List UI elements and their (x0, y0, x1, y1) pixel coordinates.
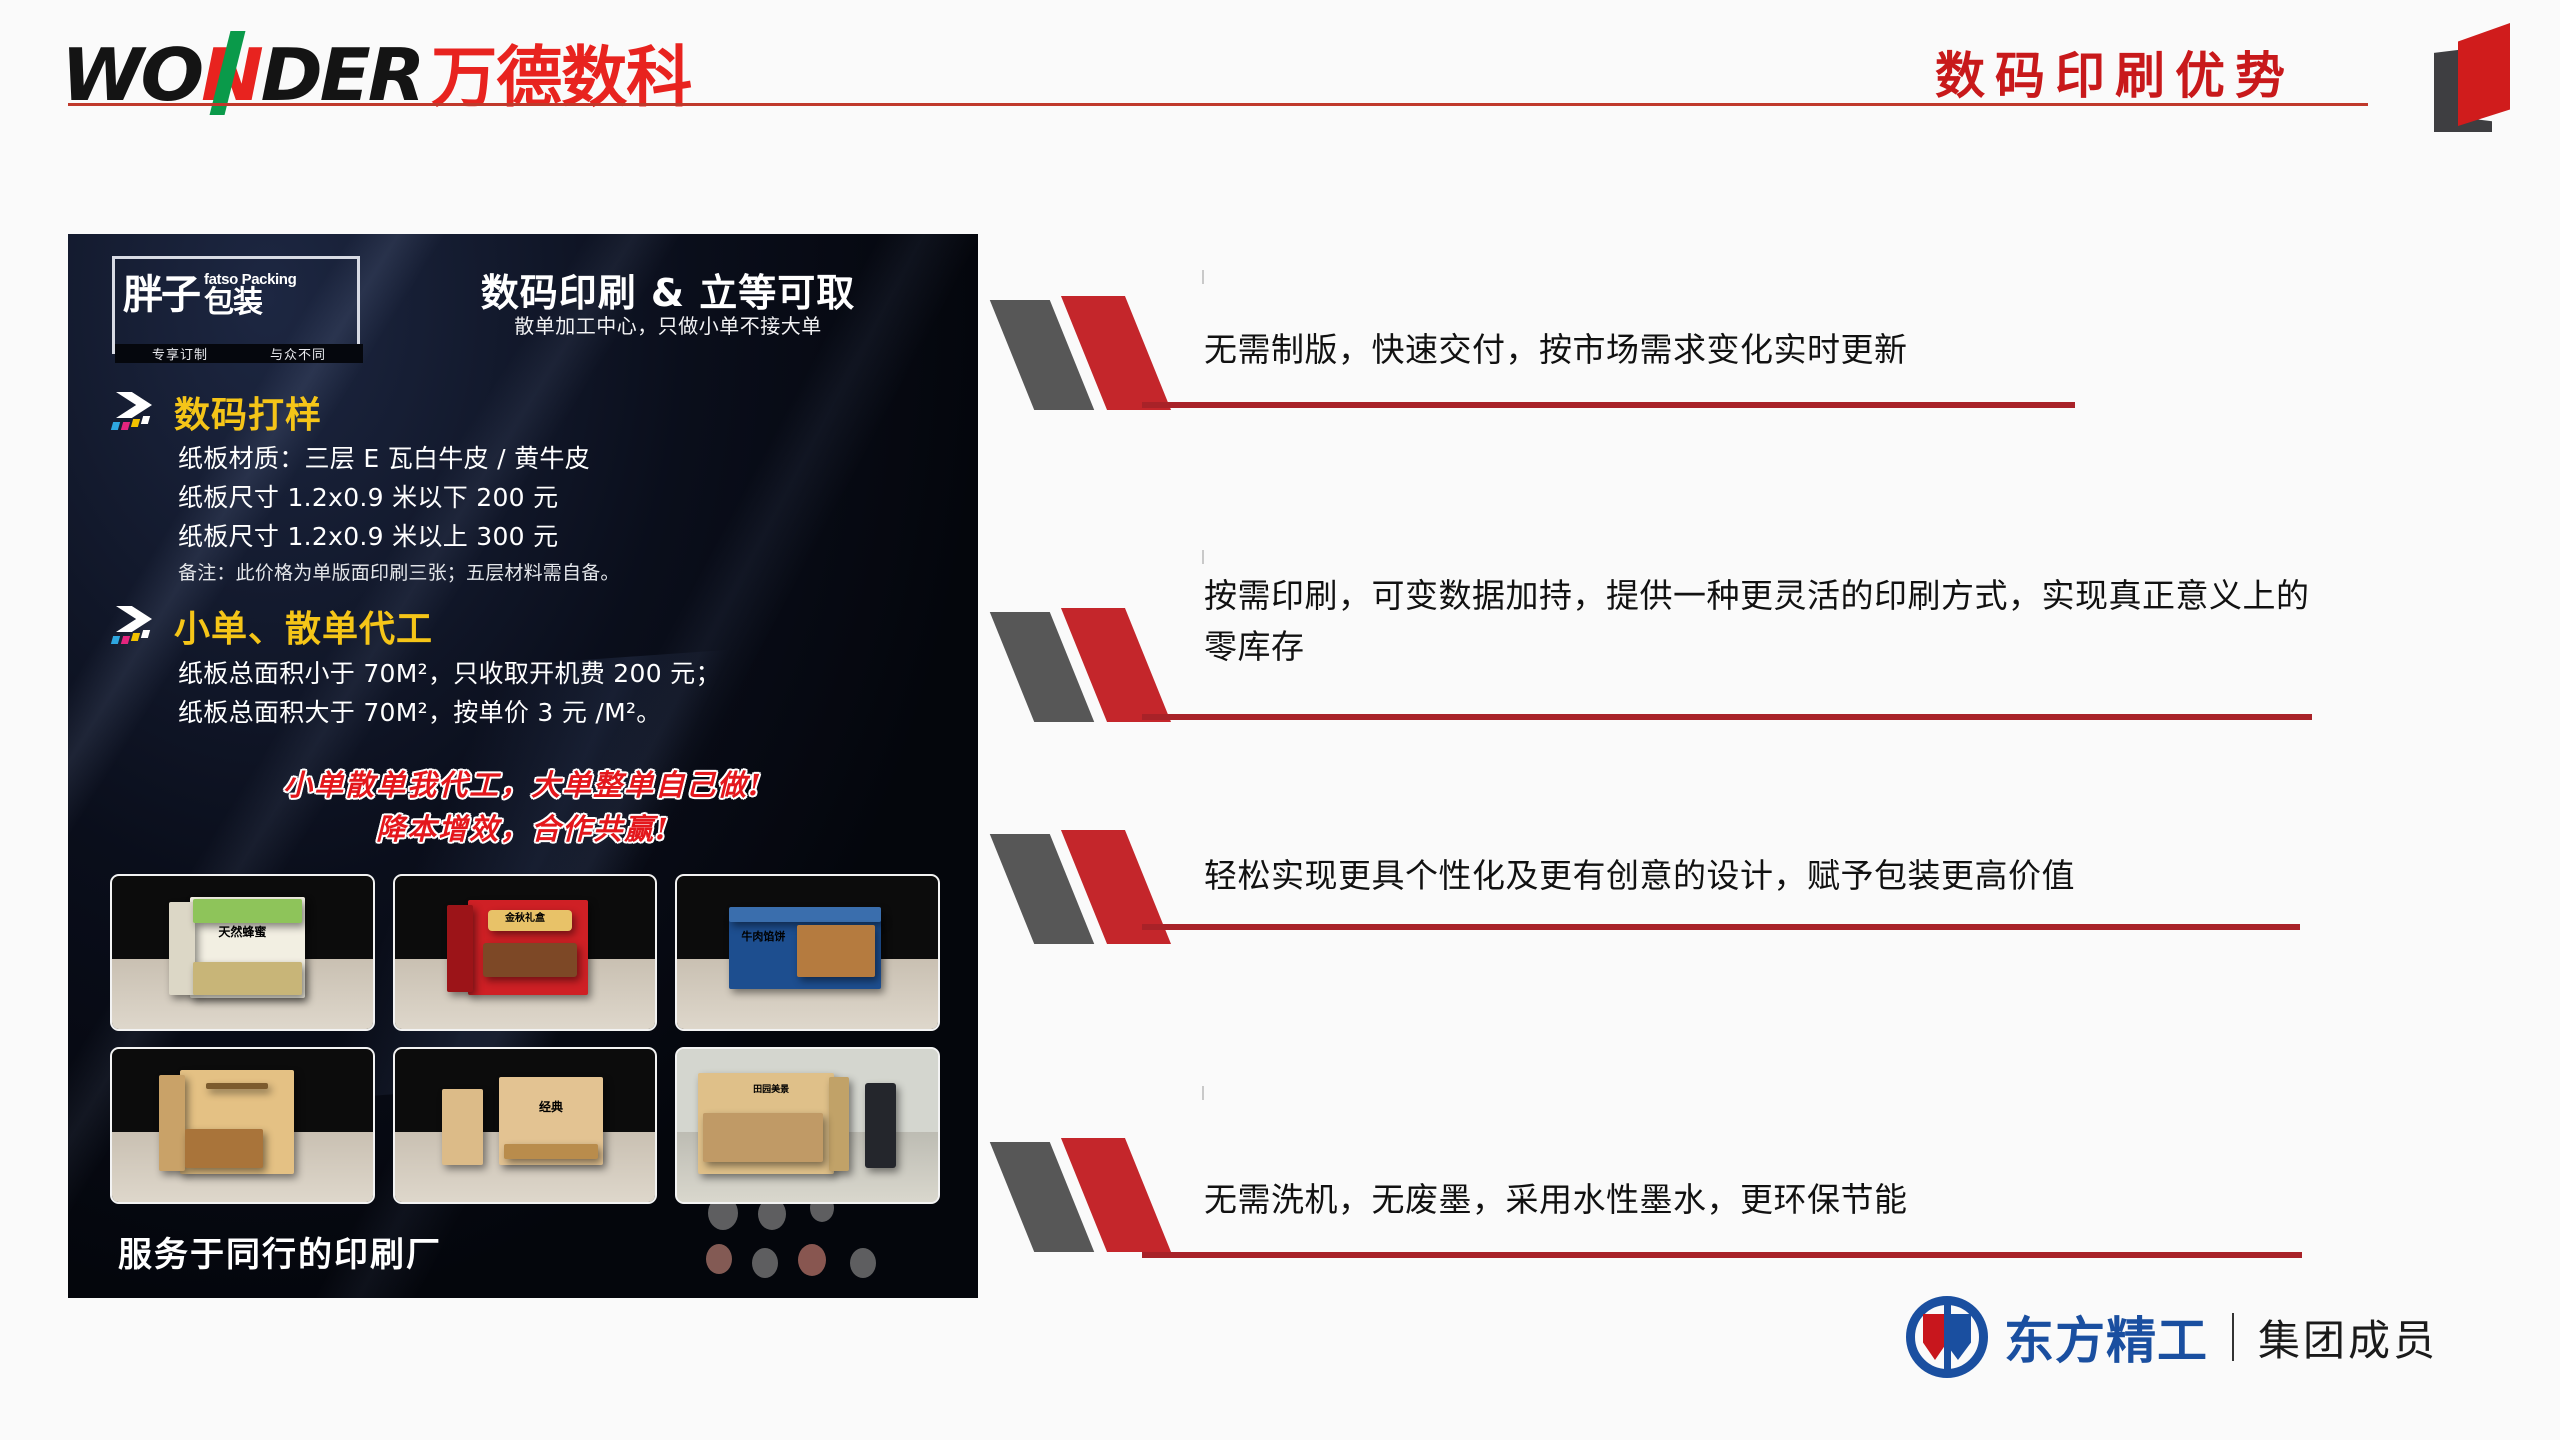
bullet-3-text: 轻松实现更具个性化及更有创意的设计，赋予包装更高价值 (1204, 850, 2314, 901)
product-photo-beef-carton: 牛肉馅饼 (675, 874, 940, 1031)
photo-2-label: 金秋礼盒 (505, 914, 545, 924)
fatso-sub-left: 专享订制 (146, 344, 214, 363)
fatso-cn-pack: 包装 (204, 288, 296, 318)
footer-company-name: 东方精工 (2004, 1301, 2208, 1373)
header-divider-rule (68, 103, 2368, 106)
promo-poster-image: 胖子 fatso Packing 包装 专享订制 与众不同 数码印刷 & 立等可… (68, 234, 978, 1298)
arrow-dot-yellow (131, 419, 140, 427)
poster-slogan-line-1: 小单散单我代工，大单整单自己做! (68, 762, 978, 804)
bullet-1-rule (1142, 402, 2075, 408)
footer-member-label: 集团成员 (2258, 1307, 2438, 1368)
arrow-dot-cyan (111, 422, 120, 430)
page-header: WONDER 万德数科 数码印刷优势 (0, 0, 2560, 175)
dongfang-precision-group-logo: 东方精工 集团成员 (1906, 1296, 2438, 1378)
arrow-dot-cyan (111, 636, 120, 644)
bullet-3-rule (1142, 924, 2300, 930)
poster-section1-note: 备注：此价格为单版面印刷三张；五层材料需自备。 (178, 558, 620, 585)
arrow-chevron (116, 392, 152, 418)
fatso-sub-right: 与众不同 (264, 344, 332, 363)
arrow-dot-white (141, 630, 150, 638)
fatso-logo-main: 胖子 fatso Packing 包装 (123, 264, 355, 326)
product-photo-kraft-gift-bag (110, 1047, 375, 1204)
corner-red-panel (2458, 23, 2510, 126)
emblem-stem (1944, 1302, 1951, 1374)
product-photo-large-display-carton: 田园美景 (675, 1047, 940, 1204)
folded-paper-corner-icon (2426, 10, 2536, 132)
footer-divider (2232, 1313, 2234, 1361)
poster-section1-line-3: 纸板尺寸 1.2x0.9 米以上 300 元 (178, 517, 558, 553)
photo-5-label: 经典 (539, 1101, 563, 1113)
arrow-dot-yellow (131, 633, 140, 641)
poster-product-photo-grid: 天然蜂蜜 金秋礼盒 牛肉馅饼 经 (110, 874, 940, 1204)
bullet-2-rule (1142, 714, 2312, 720)
poster-section1-line-1: 纸板材质：三层 E 瓦白牛皮 / 黄牛皮 (178, 439, 590, 475)
poster-section1-line-2: 纸板尺寸 1.2x0.9 米以下 200 元 (178, 478, 558, 514)
wonder-en-text: WONDER (61, 39, 422, 111)
bullet-1-marker-icon (1012, 292, 1197, 414)
poster-arrow-icon-1 (110, 392, 164, 438)
bullet-2-tick (1202, 550, 1204, 564)
poster-section2-line-1: 纸板总面积小于 70M²，只收取开机费 200 元； (178, 654, 721, 690)
fatso-logo-right: fatso Packing 包装 (204, 272, 296, 318)
wonder-cn-text: 万德数科 (431, 45, 691, 111)
bullet-4-rule (1142, 1252, 2302, 1258)
bullet-2-text: 按需印刷，可变数据加持，提供一种更灵活的印刷方式，实现真正意义上的零库存 (1204, 570, 2314, 672)
arrow-dot-magenta (121, 636, 130, 644)
poster-arrow-icon-2 (110, 606, 164, 652)
poster-slogan-line-2: 降本增效，合作共赢! (68, 806, 978, 848)
photo-6-label: 田园美景 (753, 1086, 789, 1095)
page-title: 数码印刷优势 (1935, 36, 2295, 108)
arrow-chevron (116, 606, 152, 632)
fatso-cn-big: 胖子 (123, 275, 199, 315)
poster-section2-line-2: 纸板总面积大于 70M²，按单价 3 元 /M²。 (178, 693, 662, 729)
bullet-1-tick (1202, 270, 1204, 284)
wonder-wordmark: WONDER 万德数科 (68, 39, 691, 111)
bullet-4-tick (1202, 1086, 1204, 1100)
product-photo-red-gift-box: 金秋礼盒 (393, 874, 658, 1031)
poster-bottom-caption: 服务于同行的印刷厂 (118, 1227, 442, 1276)
dongfang-emblem-icon (1906, 1296, 1988, 1378)
poster-headline: 数码印刷 & 立等可取 (398, 262, 938, 317)
fatso-packing-logo: 胖子 fatso Packing 包装 专享订制 与众不同 (112, 256, 360, 354)
bullet-2-marker-icon (1012, 604, 1197, 726)
photo-1-label: 天然蜂蜜 (218, 926, 266, 938)
product-photo-honey-gift-box: 天然蜂蜜 (110, 874, 375, 1031)
bullet-4-marker-icon (1012, 1134, 1197, 1256)
bullet-4-text: 无需洗机，无废墨，采用水性墨水，更环保节能 (1204, 1174, 2314, 1225)
arrow-dot-magenta (121, 422, 130, 430)
poster-section-title-2: 小单、散单代工 (174, 600, 433, 652)
poster-subheadline: 散单加工中心，只做小单不接大单 (398, 310, 938, 339)
arrow-dot-white (141, 416, 150, 424)
bullet-1-text: 无需制版，快速交付，按市场需求变化实时更新 (1204, 324, 2084, 375)
product-photo-classic-kraft-boxes: 经典 (393, 1047, 658, 1204)
poster-section-title-1: 数码打样 (174, 386, 322, 438)
fatso-logo-subtitle: 专享订制 与众不同 (115, 344, 363, 363)
photo-3-label: 牛肉馅饼 (741, 931, 785, 942)
